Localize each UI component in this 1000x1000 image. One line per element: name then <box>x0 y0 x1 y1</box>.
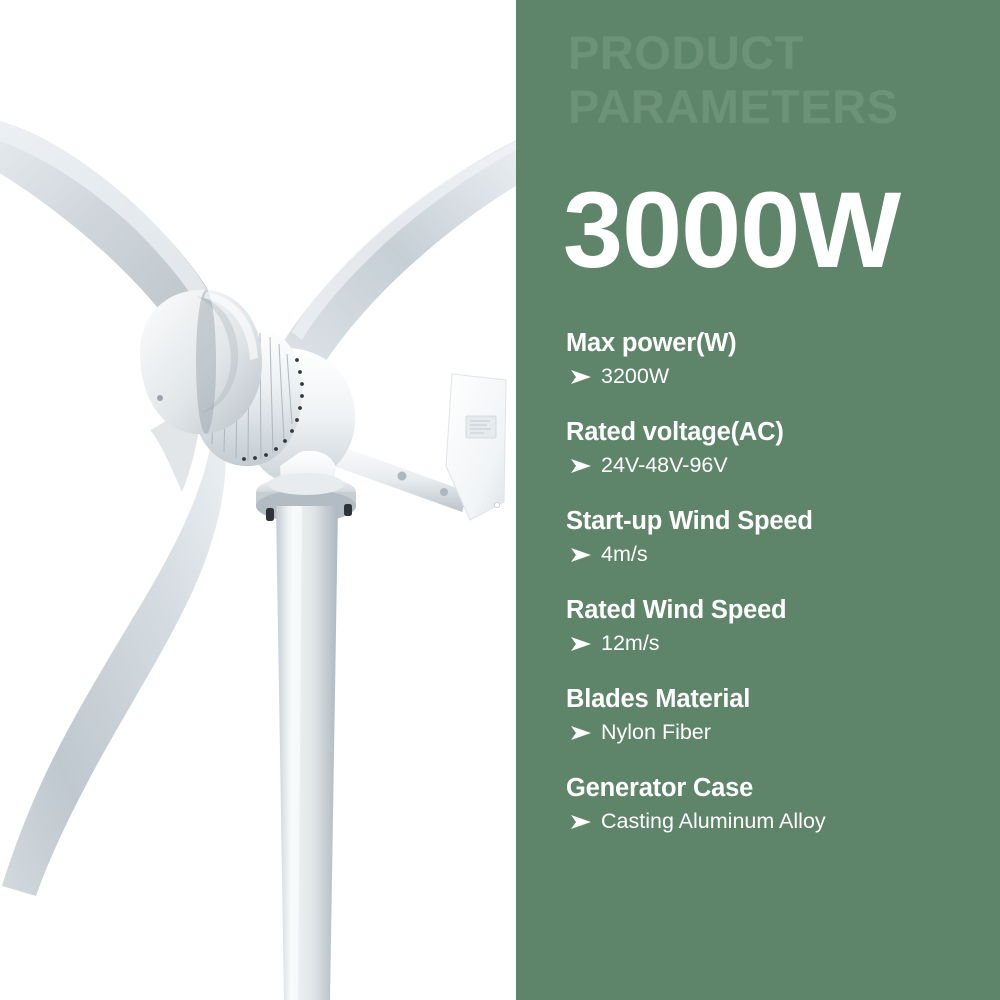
spec-value: Casting Aluminum Alloy <box>601 809 826 835</box>
spec-list: Max power(W) 3200W Rated voltage(AC) 24V… <box>566 328 986 834</box>
spec-value-row: Casting Aluminum Alloy <box>566 809 986 835</box>
spec-value: 24V-48V-96V <box>601 453 728 479</box>
spec-item-max-power: Max power(W) 3200W <box>566 328 986 390</box>
arrow-right-triangle-icon <box>568 812 594 832</box>
spec-label: Blades Material <box>566 684 986 715</box>
spec-label: Generator Case <box>566 773 986 804</box>
hub-nose-cone <box>140 290 262 434</box>
spec-item-blades-material: Blades Material Nylon Fiber <box>566 684 986 746</box>
spec-label: Rated voltage(AC) <box>566 417 986 448</box>
spec-value-row: Nylon Fiber <box>566 720 986 746</box>
spec-value: Nylon Fiber <box>601 720 711 746</box>
tower-pole <box>276 506 338 1000</box>
spec-value-row: 3200W <box>566 364 986 390</box>
spec-panel: PRODUCT PARAMETERS 3000W Max power(W) 32… <box>516 0 1000 1000</box>
spec-value: 12m/s <box>601 631 660 657</box>
headline-power-rating: 3000W <box>563 176 900 284</box>
spec-value-row: 12m/s <box>566 631 986 657</box>
product-photo <box>0 0 516 1000</box>
spec-label: Rated Wind Speed <box>566 595 986 626</box>
product-parameters-page: PRODUCT PARAMETERS 3000W Max power(W) 32… <box>0 0 1000 1000</box>
arrow-right-triangle-icon <box>568 545 594 565</box>
arrow-right-triangle-icon <box>568 456 594 476</box>
spec-item-startup-wind-speed: Start-up Wind Speed 4m/s <box>566 506 986 568</box>
watermark-title: PRODUCT PARAMETERS <box>568 26 998 133</box>
arrow-right-triangle-icon <box>568 367 594 387</box>
spec-label: Start-up Wind Speed <box>566 506 986 537</box>
spec-value: 4m/s <box>601 542 648 568</box>
spec-item-generator-case: Generator Case Casting Aluminum Alloy <box>566 773 986 835</box>
spec-value-row: 24V-48V-96V <box>566 453 986 479</box>
wind-turbine-illustration <box>0 0 516 1000</box>
spec-value: 3200W <box>601 364 669 390</box>
arrow-right-triangle-icon <box>568 634 594 654</box>
arrow-right-triangle-icon <box>568 723 594 743</box>
spec-item-rated-wind-speed: Rated Wind Speed 12m/s <box>566 595 986 657</box>
vane-label-plate <box>466 416 496 438</box>
spec-label: Max power(W) <box>566 328 986 359</box>
spec-value-row: 4m/s <box>566 542 986 568</box>
spec-item-rated-voltage: Rated voltage(AC) 24V-48V-96V <box>566 417 986 479</box>
